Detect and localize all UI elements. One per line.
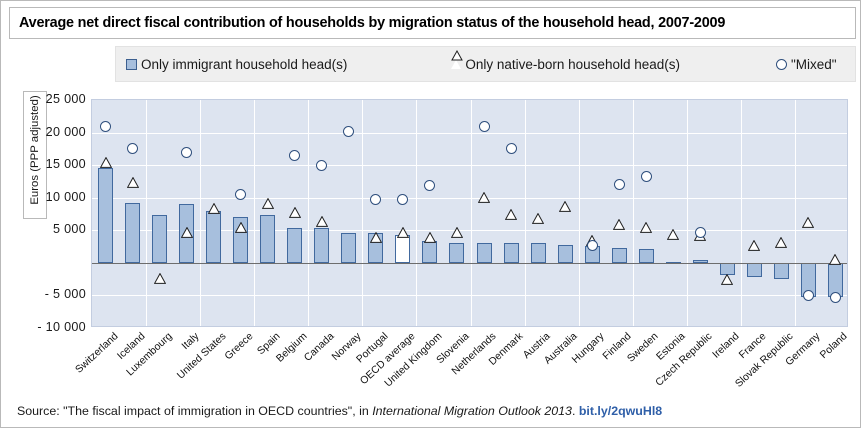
triangle-marker-switzerland bbox=[100, 155, 112, 166]
bar-belgium bbox=[287, 228, 302, 263]
chart-page: Average net direct fiscal contribution o… bbox=[0, 0, 861, 428]
gridline-vertical bbox=[795, 100, 796, 326]
circle-marker-switzerland bbox=[100, 121, 111, 132]
gridline-vertical bbox=[308, 100, 309, 326]
triangle-marker-icon bbox=[451, 60, 461, 69]
triangle-marker-netherlands bbox=[478, 190, 490, 201]
triangle-marker-canada bbox=[316, 214, 328, 225]
triangle-marker-estonia bbox=[667, 227, 679, 238]
plot-area-wrapper: 25 00020 00015 00010 0005 000- 5 000- 10… bbox=[45, 99, 850, 327]
x-axis-tick-label: Italy bbox=[180, 331, 201, 352]
legend-label-native: Only native-born household head(s) bbox=[465, 57, 680, 72]
y-axis-tick-label: 25 000 bbox=[46, 92, 86, 106]
triangle-marker-belgium bbox=[289, 205, 301, 216]
circle-marker-czech-republic bbox=[695, 227, 706, 238]
triangle-marker-united-kingdom bbox=[424, 230, 436, 241]
source-middle: . bbox=[572, 404, 579, 418]
y-axis-tick-label: - 5 000 bbox=[45, 287, 86, 301]
bar-luxembourg bbox=[152, 215, 167, 263]
page-title: Average net direct fiscal contribution o… bbox=[10, 15, 725, 31]
circle-marker-netherlands bbox=[479, 121, 490, 132]
legend-label-immigrant: Only immigrant household head(s) bbox=[141, 57, 347, 72]
triangle-marker-poland bbox=[829, 252, 841, 263]
circle-marker-iceland bbox=[127, 143, 138, 154]
bar-canada bbox=[314, 228, 329, 263]
bar-oecd-average bbox=[395, 235, 410, 263]
triangle-marker-austria bbox=[532, 211, 544, 222]
legend-item-native[interactable]: Only native-born household head(s) bbox=[451, 57, 680, 72]
bar-spain bbox=[260, 215, 275, 263]
gridline-vertical bbox=[633, 100, 634, 326]
zero-axis-line bbox=[92, 263, 847, 264]
bar-switzerland bbox=[98, 168, 113, 262]
y-axis-title-box: Euros (PPP adjusted) bbox=[23, 91, 47, 219]
gridline-vertical bbox=[200, 100, 201, 326]
bar-slovak-republic bbox=[774, 263, 789, 279]
triangle-marker-france bbox=[748, 238, 760, 249]
bar-australia bbox=[558, 245, 573, 263]
bar-austria bbox=[531, 243, 546, 263]
chart-title-bar: Average net direct fiscal contribution o… bbox=[9, 7, 856, 39]
circle-marker-hungary bbox=[587, 240, 598, 251]
gridline-vertical bbox=[416, 100, 417, 326]
triangle-marker-australia bbox=[559, 199, 571, 210]
x-axis-tick-label: Switzerland bbox=[73, 331, 120, 376]
triangle-marker-ireland bbox=[721, 272, 733, 283]
y-axis-tick-label: - 10 000 bbox=[37, 320, 86, 334]
gridline-vertical bbox=[525, 100, 526, 326]
legend-item-immigrant[interactable]: Only immigrant household head(s) bbox=[126, 57, 347, 72]
bar-united-kingdom bbox=[422, 241, 437, 263]
gridline-horizontal bbox=[92, 133, 847, 134]
x-axis-tick-label: Ireland bbox=[711, 331, 742, 361]
circle-marker-germany bbox=[803, 290, 814, 301]
source-link[interactable]: bit.ly/2qwuHl8 bbox=[579, 404, 662, 418]
circle-marker-oecd-average bbox=[397, 194, 408, 205]
circle-marker-sweden bbox=[641, 171, 652, 182]
circle-marker-belgium bbox=[289, 150, 300, 161]
bar-netherlands bbox=[477, 243, 492, 263]
gridline-vertical bbox=[687, 100, 688, 326]
gridline-horizontal bbox=[92, 295, 847, 296]
chart-legend: Only immigrant household head(s) Only na… bbox=[115, 46, 856, 82]
triangle-marker-united-states bbox=[208, 201, 220, 212]
bar-denmark bbox=[504, 243, 519, 263]
y-axis-tick-label: 15 000 bbox=[46, 157, 86, 171]
bar-france bbox=[747, 263, 762, 277]
bar-norway bbox=[341, 233, 356, 263]
bar-iceland bbox=[125, 203, 140, 263]
gridline-vertical bbox=[254, 100, 255, 326]
triangle-marker-luxembourg bbox=[154, 271, 166, 282]
triangle-marker-portugal bbox=[370, 230, 382, 241]
circle-marker-canada bbox=[316, 160, 327, 171]
source-publication: International Migration Outlook 2013 bbox=[372, 404, 572, 418]
circle-marker-portugal bbox=[370, 194, 381, 205]
gridline-vertical bbox=[362, 100, 363, 326]
circle-marker-norway bbox=[343, 126, 354, 137]
gridline-vertical bbox=[741, 100, 742, 326]
circle-marker-poland bbox=[830, 292, 841, 303]
x-axis-tick-label: Greece bbox=[223, 331, 255, 362]
circle-marker-italy bbox=[181, 147, 192, 158]
triangle-marker-slovak-republic bbox=[775, 235, 787, 246]
gridline-vertical bbox=[146, 100, 147, 326]
triangle-marker-spain bbox=[262, 196, 274, 207]
y-axis-labels: 25 00020 00015 00010 0005 000- 5 000- 10… bbox=[45, 99, 89, 327]
bar-finland bbox=[612, 248, 627, 263]
triangle-marker-greece bbox=[235, 220, 247, 231]
triangle-marker-denmark bbox=[505, 207, 517, 218]
gridline-horizontal bbox=[92, 165, 847, 166]
circle-marker-united-kingdom bbox=[424, 180, 435, 191]
circle-marker-finland bbox=[614, 179, 625, 190]
plot-area bbox=[91, 99, 848, 327]
triangle-marker-oecd-average bbox=[397, 225, 409, 236]
gridline-horizontal bbox=[92, 198, 847, 199]
triangle-marker-italy bbox=[181, 225, 193, 236]
triangle-marker-sweden bbox=[640, 220, 652, 231]
y-axis-tick-label: 10 000 bbox=[46, 190, 86, 204]
gridline-vertical bbox=[471, 100, 472, 326]
gridline-vertical bbox=[579, 100, 580, 326]
bar-slovenia bbox=[449, 243, 464, 263]
triangle-marker-finland bbox=[613, 217, 625, 228]
square-marker-icon bbox=[126, 59, 137, 70]
x-axis-tick-label: Poland bbox=[819, 331, 850, 361]
y-axis-title: Euros (PPP adjusted) bbox=[29, 86, 41, 214]
circle-marker-icon bbox=[776, 59, 787, 70]
bar-sweden bbox=[639, 249, 654, 263]
legend-item-mixed[interactable]: "Mixed" bbox=[776, 57, 837, 72]
circle-marker-denmark bbox=[506, 143, 517, 154]
x-axis-labels: SwitzerlandIcelandLuxembourgItalyUnited … bbox=[91, 331, 851, 401]
y-axis-tick-label: 20 000 bbox=[46, 125, 86, 139]
triangle-marker-iceland bbox=[127, 175, 139, 186]
triangle-marker-germany bbox=[802, 215, 814, 226]
y-axis-tick-label: 5 000 bbox=[53, 222, 86, 236]
legend-label-mixed: "Mixed" bbox=[791, 57, 837, 72]
source-prefix: Source: "The fiscal impact of immigratio… bbox=[17, 404, 372, 418]
gridline-horizontal bbox=[92, 328, 847, 329]
bar-united-states bbox=[206, 211, 221, 263]
source-note: Source: "The fiscal impact of immigratio… bbox=[17, 404, 662, 418]
triangle-marker-slovenia bbox=[451, 225, 463, 236]
